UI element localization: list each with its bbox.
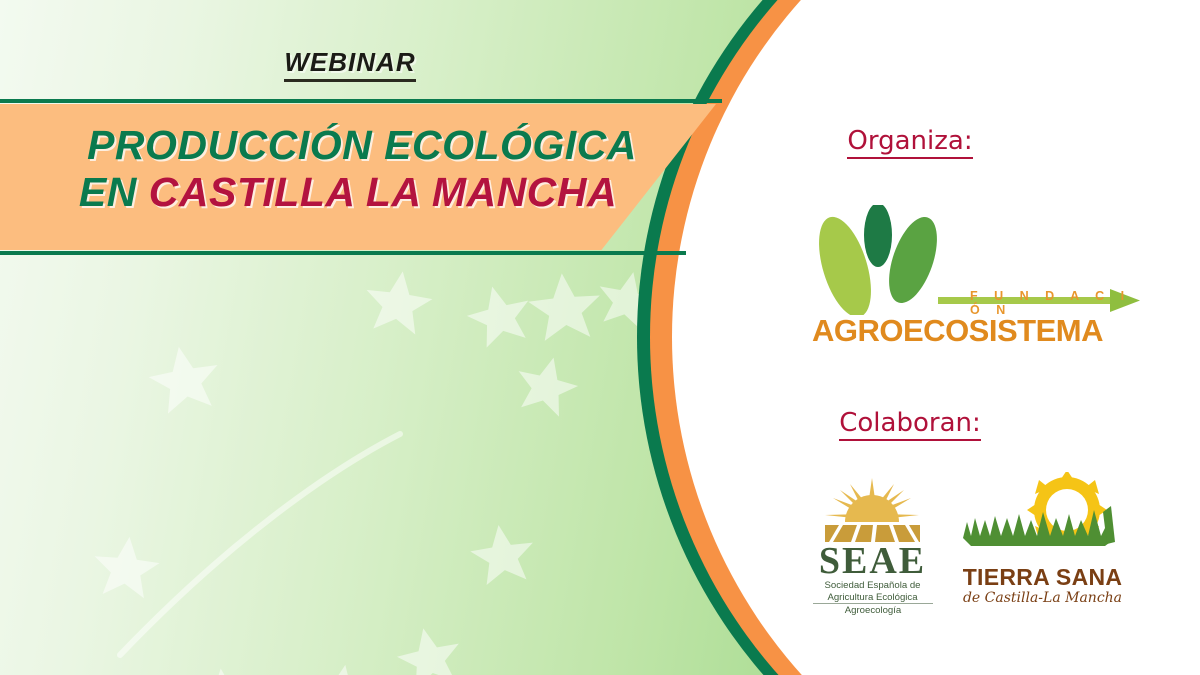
seae-subtitle: Sociedad Española de Agricultura Ecológi…: [805, 580, 940, 603]
logo-tierra-sana[interactable]: TIERRA SANA de Castilla-La Mancha: [955, 472, 1130, 617]
seae-subtitle-line2: Agricultura Ecológica: [805, 592, 940, 604]
sponsors-column: Organiza: F U N D A C I Ó N AGROECOSISTE…: [700, 0, 1200, 675]
banner-top-rule: [0, 99, 722, 103]
tierra-sana-sun-grass-icon: [955, 472, 1130, 567]
kicker-text: WEBINAR: [284, 47, 415, 82]
seae-subtitle-line1: Sociedad Española de: [805, 580, 940, 592]
page-title: PRODUCCIÓN ECOLÓGICA EN CASTILLA LA MANC…: [0, 122, 716, 215]
seae-acronym: SEAE: [805, 542, 940, 580]
title-line-2-region: CASTILLA LA MANCHA: [149, 169, 617, 215]
webinar-slide: WEBINAR PRODUCCIÓN ECOLÓGICA EN CASTILLA…: [0, 0, 1200, 675]
seae-subtitle-line3: Agroecología: [813, 603, 933, 616]
organiza-heading: Organiza:: [730, 126, 1090, 156]
tierra-sana-subtext: de Castilla-La Mancha: [955, 590, 1130, 606]
seae-sun-field-icon: [805, 470, 940, 550]
tierra-sana-text: TIERRA SANA: [955, 564, 1130, 591]
agroecosistema-text: AGROECOSISTEMA: [812, 313, 1103, 349]
kicker-webinar: WEBINAR: [0, 47, 700, 78]
banner-bottom-rule: [0, 251, 686, 255]
colaboran-label: Colaboran:: [839, 408, 981, 441]
organiza-label: Organiza:: [847, 126, 972, 159]
logo-seae[interactable]: SEAE Sociedad Española de Agricultura Ec…: [805, 470, 940, 625]
title-line-1: PRODUCCIÓN ECOLÓGICA: [0, 122, 716, 169]
title-line-2-prefix: EN: [79, 169, 149, 215]
colaboran-heading: Colaboran:: [730, 408, 1090, 438]
logo-fundacion-agroecosistema[interactable]: F U N D A C I Ó N AGROECOSISTEMA: [810, 205, 1150, 370]
